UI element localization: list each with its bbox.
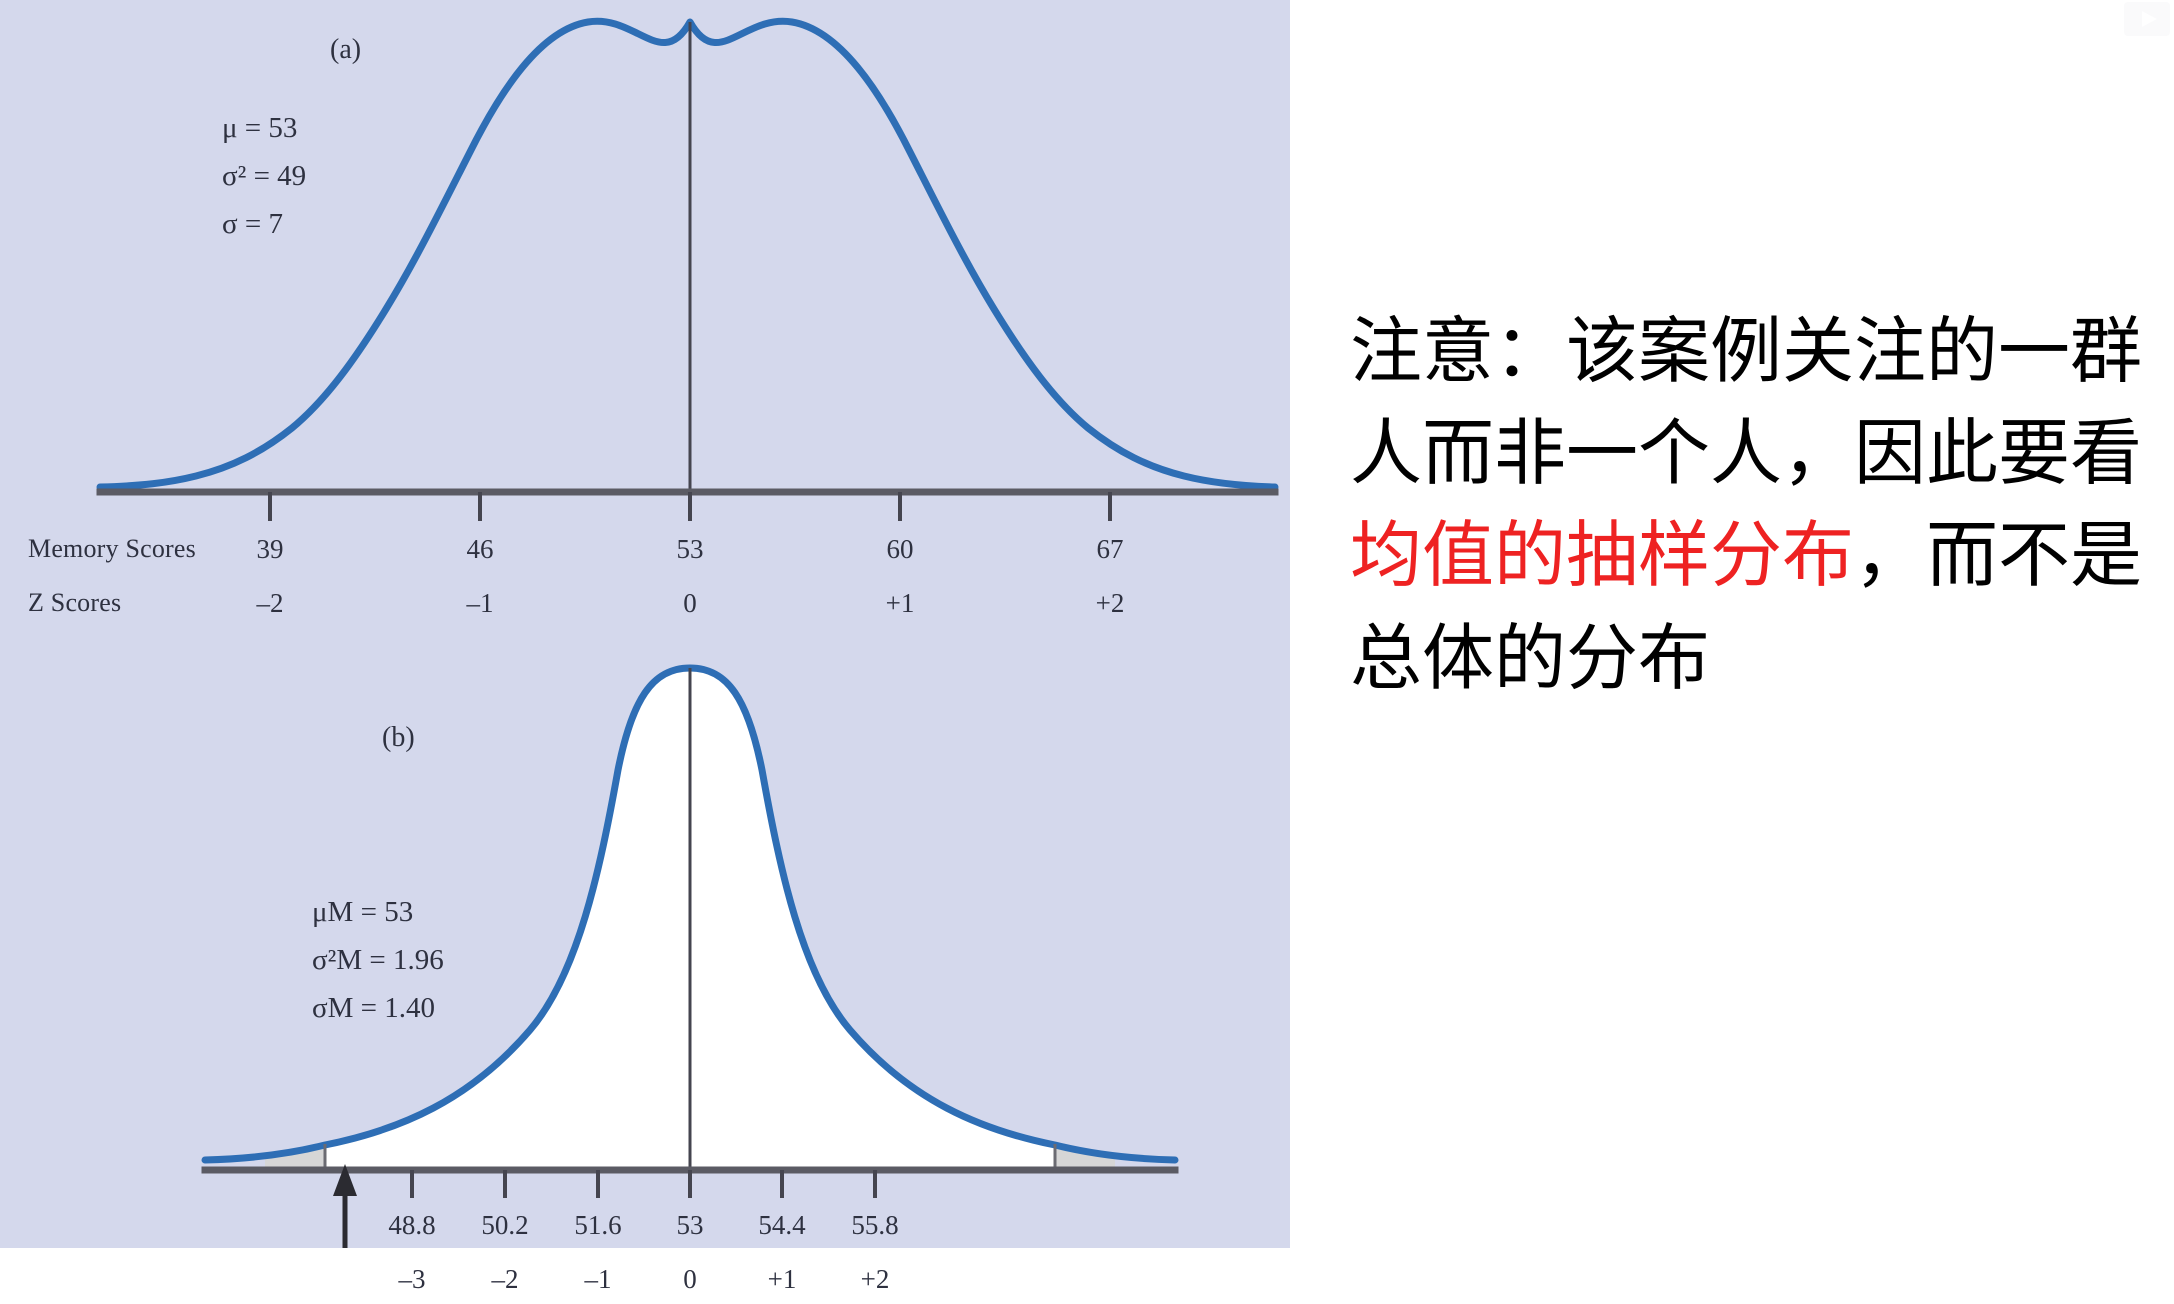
chart-a-panel-label: (a): [330, 34, 361, 66]
chart-b-mean-tick-4: 54.4: [758, 1210, 805, 1241]
chart-b-stat-mu: μM = 53: [312, 892, 444, 932]
chart-b-stat-variance-text: σ²M = 1.96: [312, 944, 444, 976]
chart-a-ticks: [270, 492, 1110, 521]
chart-a-memory-tick-3: 60: [887, 534, 914, 565]
chart-b-mean-tick-3: 53: [677, 1210, 704, 1241]
chart-a-population-distribution: (a) μ = 53 σ² = 49 σ = 7 Memory Scores 3…: [0, 0, 1290, 630]
note-panel: 注意：该案例关注的一群人而非一个人，因此要看均值的抽样分布，而不是总体的分布: [1290, 0, 2174, 1248]
figure-panel: (a) μ = 53 σ² = 49 σ = 7 Memory Scores 3…: [0, 0, 1290, 1248]
chart-a-memory-tick-2: 53: [677, 534, 704, 565]
chart-a-z-tick-1: –1: [467, 588, 494, 619]
slide-stage: (a) μ = 53 σ² = 49 σ = 7 Memory Scores 3…: [0, 0, 2174, 1248]
chart-a-axis-memory-scores: Memory Scores 39 46 53 60 67: [0, 534, 1290, 574]
chart-a-stat-variance-text: σ² = 49: [222, 160, 306, 192]
chart-b-z-tick-2: –1: [585, 1264, 612, 1295]
chart-a-z-tick-0: –2: [257, 588, 284, 619]
chart-a-axis-memory-label: Memory Scores: [28, 534, 196, 564]
chart-a-stat-sd: σ = 7: [222, 204, 306, 244]
chart-a-stat-mu-text: μ = 53: [222, 112, 297, 144]
chart-b-z-tick-5: +2: [861, 1264, 890, 1295]
chart-a-stat-variance: σ² = 49: [222, 156, 306, 196]
chart-a-stat-sd-text: σ = 7: [222, 208, 283, 240]
chart-a-axis-z-scores: Z Scores –2 –1 0 +1 +2: [0, 588, 1290, 628]
note-segment-highlight: 均值的抽样分布: [1350, 513, 1854, 597]
chart-b-axis-z-scores: –3 –2 –1 0 +1 +2: [0, 1264, 1290, 1304]
chart-b-stat-sd: σM = 1.40: [312, 988, 444, 1028]
chart-b-mean-tick-0: 48.8: [388, 1210, 435, 1241]
chart-a-z-tick-3: +1: [886, 588, 915, 619]
chart-b-stats: μM = 53 σ²M = 1.96 σM = 1.40: [312, 892, 444, 1036]
chart-a-stats: μ = 53 σ² = 49 σ = 7: [222, 108, 306, 252]
chart-a-axis-z-label: Z Scores: [28, 588, 121, 618]
chart-b-stat-mu-text: μM = 53: [312, 896, 413, 928]
chart-b-ticks: [412, 1170, 875, 1198]
play-badge-icon: [2124, 2, 2170, 36]
note-segment-plain-1: 注意：该案例关注的一群人而非一个人，因此要看: [1350, 309, 2142, 495]
chart-b-mean-tick-1: 50.2: [481, 1210, 528, 1241]
chart-b-sampling-distribution: (b) μM = 53 σ²M = 1.96 σM = 1.40 48.8 50…: [0, 630, 1290, 1248]
chart-b-z-tick-3: 0: [683, 1264, 697, 1295]
chart-b-svg: [0, 630, 1290, 1248]
chart-a-memory-tick-1: 46: [467, 534, 494, 565]
chart-a-curve: [100, 21, 1275, 487]
chart-b-mean-tick-2: 51.6: [574, 1210, 621, 1241]
chart-a-stat-mu: μ = 53: [222, 108, 306, 148]
chart-b-panel-label: (b): [382, 722, 415, 754]
chart-b-z-tick-4: +1: [768, 1264, 797, 1295]
chart-b-axis-mean-values: 48.8 50.2 51.6 53 54.4 55.8: [0, 1210, 1290, 1250]
chart-b-z-tick-0: –3: [399, 1264, 426, 1295]
chart-b-stat-variance: σ²M = 1.96: [312, 940, 444, 980]
note-text: 注意：该案例关注的一群人而非一个人，因此要看均值的抽样分布，而不是总体的分布: [1350, 300, 2160, 709]
chart-a-memory-tick-4: 67: [1097, 534, 1124, 565]
chart-b-z-tick-1: –2: [492, 1264, 519, 1295]
chart-b-mean-tick-5: 55.8: [851, 1210, 898, 1241]
chart-a-z-tick-4: +2: [1096, 588, 1125, 619]
chart-a-memory-tick-0: 39: [257, 534, 284, 565]
chart-b-stat-sd-text: σM = 1.40: [312, 992, 435, 1024]
chart-a-z-tick-2: 0: [683, 588, 697, 619]
